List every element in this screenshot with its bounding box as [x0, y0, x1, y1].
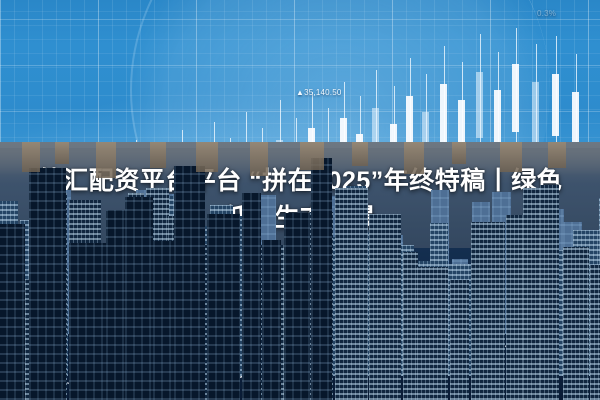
banner-image: ▲35,140.50 ▼0.15% 0.3% 4.5% 外汇配资平台平台 “拼在… [0, 0, 600, 400]
index-value-label: ▲35,140.50 [296, 88, 342, 97]
headline-line-1: 外汇配资平台平台 “拼在2025”年终特稿丨绿色 [38, 167, 563, 196]
change-percent-up-label: 0.3% [537, 9, 556, 18]
